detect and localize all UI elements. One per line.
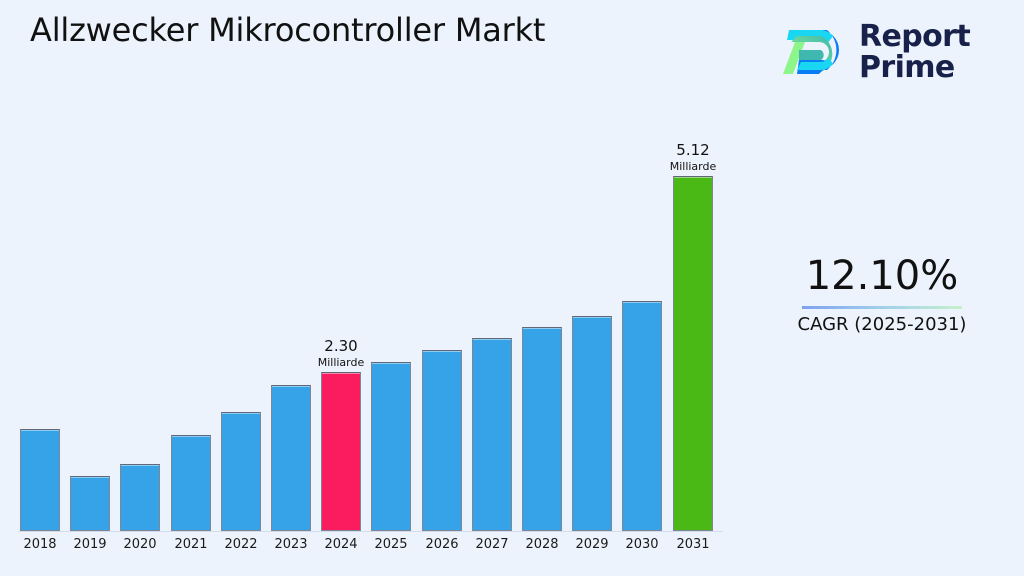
bar-2021[interactable]: [171, 435, 211, 531]
bar-2023[interactable]: [271, 385, 311, 531]
bar-rect-2030[interactable]: [622, 301, 662, 531]
bar-rect-2031[interactable]: [673, 176, 713, 531]
bar-rect-2024[interactable]: [321, 372, 361, 531]
cagr-block: 12.10% CAGR (2025-2031): [740, 252, 1024, 337]
brand-name-line1: Report: [859, 19, 970, 54]
bar-rect-2022[interactable]: [221, 412, 261, 531]
bar-rect-2019[interactable]: [70, 476, 110, 531]
bar-2022[interactable]: [221, 412, 261, 531]
bar-unit-label-2031: Milliarde: [647, 160, 739, 173]
bar-rect-2027[interactable]: [472, 338, 512, 531]
bar-2018[interactable]: [20, 429, 60, 531]
brand-name: Report Prime: [859, 21, 970, 83]
bar-rect-2026[interactable]: [422, 350, 462, 531]
bar-2031[interactable]: Milliarde5.12: [673, 176, 713, 531]
chart-page: Allzwecker Mikrocontroller Markt Milliar…: [0, 0, 1024, 576]
bar-2020[interactable]: [120, 464, 160, 531]
bar-2026[interactable]: [422, 350, 462, 531]
bar-2029[interactable]: [572, 316, 612, 531]
x-axis-baseline: [18, 531, 723, 532]
brand-name-line2: Prime: [859, 50, 955, 85]
bar-rect-2025[interactable]: [371, 362, 411, 531]
bar-rect-2020[interactable]: [120, 464, 160, 531]
bar-2027[interactable]: [472, 338, 512, 531]
bar-value-label-2024: 2.30: [295, 338, 387, 355]
bar-rect-2021[interactable]: [171, 435, 211, 531]
cagr-label: CAGR (2025-2031): [740, 313, 1024, 337]
bar-2030[interactable]: [622, 301, 662, 531]
right-panel: Report Prime 12.10% CAGR (2025-2031): [740, 0, 1024, 576]
bar-rect-2023[interactable]: [271, 385, 311, 531]
bar-chart: Milliarde2.30Milliarde5.12 2018201920202…: [0, 0, 737, 576]
bar-rect-2029[interactable]: [572, 316, 612, 531]
bar-2019[interactable]: [70, 476, 110, 531]
bar-rect-2018[interactable]: [20, 429, 60, 531]
bar-value-label-2031: 5.12: [647, 142, 739, 159]
bar-rect-2028[interactable]: [522, 327, 562, 531]
cagr-value: 12.10%: [740, 252, 1024, 300]
report-prime-logo-mark-icon: [775, 16, 847, 88]
cagr-divider: [802, 306, 962, 309]
brand-logo: Report Prime: [775, 12, 1005, 92]
x-tick-2031: 2031: [663, 537, 723, 552]
bar-2028[interactable]: [522, 327, 562, 531]
bar-2025[interactable]: [371, 362, 411, 531]
bar-2024[interactable]: Milliarde2.30: [321, 372, 361, 531]
